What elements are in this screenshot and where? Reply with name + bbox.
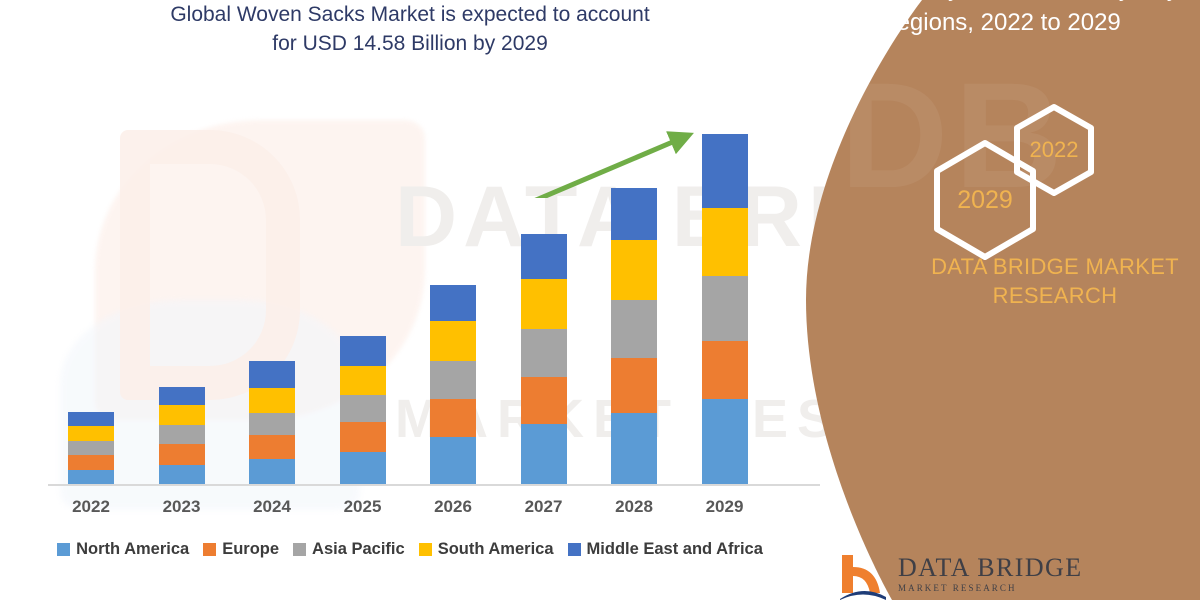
hexagon-2022-label: 2022 <box>1030 137 1079 163</box>
bar-segment-north-america <box>68 470 114 485</box>
bar-segment-middle-east-and-africa <box>430 285 476 321</box>
bar-segment-south-america <box>521 279 567 329</box>
x-axis-label-2028: 2028 <box>599 497 669 517</box>
chart: Global Woven Sacks Market is expected to… <box>0 0 840 600</box>
bar-segment-europe <box>340 422 386 452</box>
bar-segment-south-america <box>249 388 295 413</box>
legend-swatch-south-america <box>419 543 432 556</box>
data-bridge-logo: DATA BRIDGE MARKET RESEARCH <box>840 553 1083 600</box>
bar-segment-asia-pacific <box>430 361 476 399</box>
panel-heading: Market Analysis and Size, By Key Regions… <box>800 0 1200 40</box>
bar-2027 <box>521 234 567 485</box>
legend-item-asia-pacific[interactable]: Asia Pacific <box>293 540 405 559</box>
bar-segment-europe <box>430 399 476 437</box>
bar-segment-asia-pacific <box>249 413 295 435</box>
bar-segment-north-america <box>159 465 205 485</box>
x-axis-label-2029: 2029 <box>690 497 760 517</box>
legend-label-middle-east-and-africa: Middle East and Africa <box>587 540 763 559</box>
bar-2023 <box>159 387 205 485</box>
x-axis-label-2022: 2022 <box>56 497 126 517</box>
bar-2025 <box>340 336 386 485</box>
panel-heading-visible: Regions, 2022 to 2029 <box>818 6 1182 40</box>
bar-segment-asia-pacific <box>702 276 748 341</box>
legend-swatch-asia-pacific <box>293 543 306 556</box>
bar-segment-asia-pacific <box>521 329 567 377</box>
bar-segment-middle-east-and-africa <box>340 336 386 366</box>
x-axis-label-2024: 2024 <box>237 497 307 517</box>
bar-segment-asia-pacific <box>68 441 114 455</box>
x-axis-label-2027: 2027 <box>509 497 579 517</box>
chart-title-line-2: for USD 14.58 Billion by 2029 <box>60 29 760 58</box>
hexagon-badge-2022: 2022 <box>1012 103 1096 197</box>
chart-title-line-1: Global Woven Sacks Market is expected to… <box>60 0 760 29</box>
plot-area <box>52 120 812 485</box>
bar-segment-south-america <box>430 321 476 361</box>
legend-item-north-america[interactable]: North America <box>57 540 189 559</box>
bar-2022 <box>68 412 114 485</box>
bar-2026 <box>430 285 476 485</box>
bar-segment-north-america <box>249 459 295 485</box>
bar-segment-north-america <box>340 452 386 485</box>
bridge-mark-icon <box>840 553 886 600</box>
bar-segment-middle-east-and-africa <box>611 188 657 240</box>
bar-segment-north-america <box>611 413 657 485</box>
bar-segment-middle-east-and-africa <box>68 412 114 426</box>
bar-2028 <box>611 188 657 485</box>
bar-segment-europe <box>702 341 748 399</box>
bar-2024 <box>249 361 295 485</box>
legend-label-north-america: North America <box>76 540 189 559</box>
chart-title: Global Woven Sacks Market is expected to… <box>60 0 760 58</box>
legend-swatch-north-america <box>57 543 70 556</box>
logo-wordmark: DATA BRIDGE <box>898 553 1083 583</box>
bar-segment-middle-east-and-africa <box>521 234 567 279</box>
bar-segment-middle-east-and-africa <box>159 387 205 405</box>
bar-segment-south-america <box>68 426 114 441</box>
bar-segment-europe <box>521 377 567 424</box>
legend-item-south-america[interactable]: South America <box>419 540 554 559</box>
logo-tagline: MARKET RESEARCH <box>898 583 1083 593</box>
legend-item-europe[interactable]: Europe <box>203 540 279 559</box>
bar-segment-north-america <box>430 437 476 485</box>
bar-segment-asia-pacific <box>159 425 205 444</box>
bar-segment-south-america <box>702 208 748 276</box>
legend-label-south-america: South America <box>438 540 554 559</box>
chart-legend: North AmericaEuropeAsia PacificSouth Ame… <box>0 540 820 559</box>
x-axis-labels: 20222023202420252026202720282029 <box>0 497 840 523</box>
bar-segment-europe <box>159 444 205 465</box>
x-axis-label-2025: 2025 <box>328 497 398 517</box>
x-axis-label-2026: 2026 <box>418 497 488 517</box>
legend-item-middle-east-and-africa[interactable]: Middle East and Africa <box>568 540 763 559</box>
x-axis-label-2023: 2023 <box>147 497 217 517</box>
hexagon-2029-label: 2029 <box>957 186 1013 215</box>
brand-name-line-1: DATA BRIDGE MARKET <box>910 252 1200 281</box>
bar-segment-europe <box>68 455 114 470</box>
bar-segment-middle-east-and-africa <box>702 134 748 208</box>
legend-swatch-middle-east-and-africa <box>568 543 581 556</box>
bar-segment-asia-pacific <box>611 300 657 358</box>
legend-label-asia-pacific: Asia Pacific <box>312 540 405 559</box>
legend-swatch-europe <box>203 543 216 556</box>
brand-name-line-2: RESEARCH <box>910 281 1200 310</box>
legend-label-europe: Europe <box>222 540 279 559</box>
bar-segment-south-america <box>340 366 386 395</box>
bar-segment-north-america <box>521 424 567 485</box>
bar-segment-south-america <box>611 240 657 300</box>
infographic-page: DATA BRIDGE MARKET RESEARCH DB Market An… <box>0 0 1200 600</box>
bar-segment-europe <box>611 358 657 413</box>
bar-segment-europe <box>249 435 295 459</box>
bar-segment-asia-pacific <box>340 395 386 422</box>
bar-segment-north-america <box>702 399 748 485</box>
brand-name: DATA BRIDGE MARKET RESEARCH <box>910 252 1200 310</box>
bar-segment-south-america <box>159 405 205 425</box>
axis-baseline <box>48 484 820 486</box>
bar-2029 <box>702 134 748 485</box>
bar-segment-middle-east-and-africa <box>249 361 295 388</box>
